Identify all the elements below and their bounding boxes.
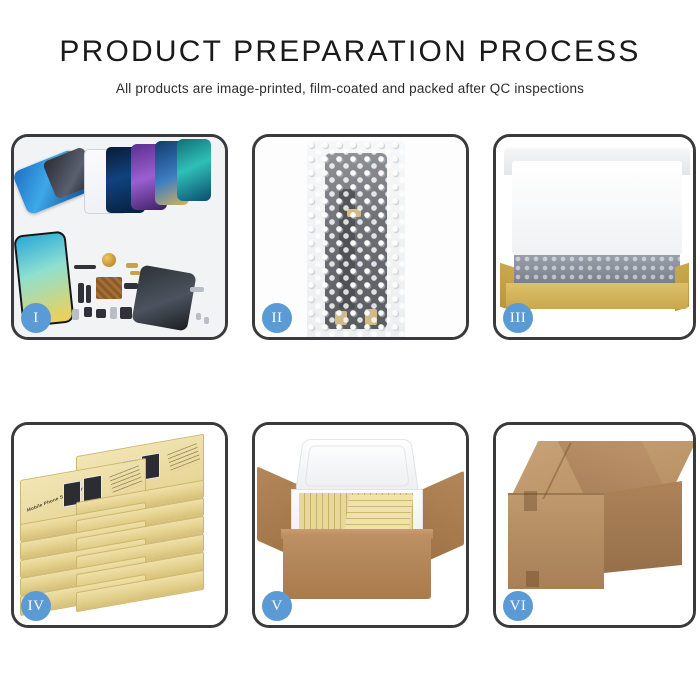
carton-tape-tab-bottom	[526, 571, 539, 587]
carton-seam-top	[508, 493, 604, 495]
step-badge-5: V	[262, 591, 292, 621]
process-steps-grid: I II	[11, 134, 693, 628]
flex-cable-1	[74, 265, 96, 269]
sim-tray	[72, 309, 79, 320]
process-step-panel-2: II	[252, 134, 469, 340]
carton-front-face	[508, 493, 604, 589]
header: PRODUCT PREPARATION PROCESS All products…	[0, 0, 700, 96]
bubble-texture	[307, 141, 405, 337]
small-part-3	[124, 283, 138, 289]
page-title: PRODUCT PREPARATION PROCESS	[0, 36, 700, 68]
tool-tweezer	[190, 287, 204, 292]
bubble-wrap-bag	[307, 141, 405, 337]
carton-front-panel	[283, 535, 431, 599]
process-step-panel-6: VI	[493, 422, 696, 628]
step-badge-4: IV	[21, 591, 51, 621]
step-badge-2: II	[262, 303, 292, 333]
bubble-wrapped-stack	[514, 255, 680, 285]
process-step-panel-4: Mobile Phone Spare Parts Mobile Phone Sp…	[11, 422, 228, 628]
foam-lid-groove	[304, 446, 409, 487]
camera-module	[84, 307, 92, 317]
screw-2	[204, 317, 209, 324]
carton-tape-tab-top	[524, 491, 537, 511]
small-part-2	[86, 285, 91, 303]
phone-screen-teal	[177, 139, 211, 201]
process-step-panel-5: V	[252, 422, 469, 628]
vibrator-motor	[96, 309, 106, 318]
process-step-panel-1: I	[11, 134, 228, 340]
screw-1	[196, 313, 201, 320]
box-stack: Mobile Phone Spare Parts Mobile Phone Sp…	[18, 439, 225, 619]
step-badge-1: I	[21, 303, 51, 333]
foam-box-lid	[295, 439, 420, 495]
yellow-boxes-row-2	[344, 495, 413, 531]
step-badge-6: VI	[503, 591, 533, 621]
phone-back-housing	[131, 265, 196, 332]
circuit-board	[96, 277, 122, 299]
process-step-panel-3: III	[493, 134, 696, 340]
small-part-1	[78, 283, 84, 303]
white-foam-sheet	[512, 161, 682, 255]
gold-connector-2	[130, 271, 140, 275]
step-badge-3: III	[503, 303, 533, 333]
small-part-5	[120, 307, 132, 319]
product-preparation-infographic: PRODUCT PREPARATION PROCESS All products…	[0, 0, 700, 700]
page-subtitle: All products are image-printed, film-coa…	[0, 81, 700, 96]
speaker-part	[102, 253, 116, 267]
box-front-panel	[506, 283, 688, 309]
carton-side-face	[604, 481, 682, 573]
small-part-4	[110, 307, 117, 319]
gold-connector	[126, 263, 138, 268]
